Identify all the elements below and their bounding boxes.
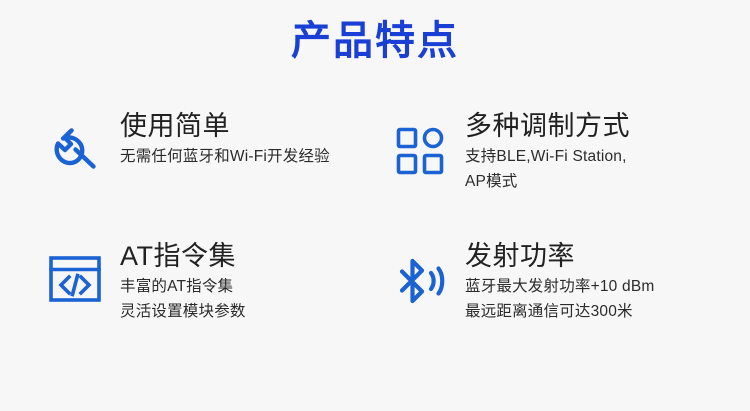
feature-desc-line: 蓝牙最大发射功率+10 dBm	[465, 274, 654, 299]
feature-title: 多种调制方式	[465, 108, 630, 144]
feature-item-at-command-set: AT指令集 丰富的AT指令集 灵活设置模块参数	[0, 234, 375, 364]
page-title: 产品特点	[0, 16, 750, 66]
feature-text-block: AT指令集 丰富的AT指令集 灵活设置模块参数	[120, 234, 246, 324]
code-window-icon	[44, 248, 106, 310]
feature-item-transmit-power: 发射功率 蓝牙最大发射功率+10 dBm 最远距离通信可达300米	[375, 234, 750, 364]
feature-title: 使用简单	[120, 108, 330, 144]
feature-desc-line: 最远距离通信可达300米	[465, 299, 654, 324]
wrench-icon	[44, 116, 106, 178]
feature-item-usage-simple: 使用简单 无需任何蓝牙和Wi-Fi开发经验	[0, 104, 375, 234]
feature-text-block: 多种调制方式 支持BLE,Wi-Fi Station, AP模式	[465, 104, 630, 194]
feature-desc-line: 丰富的AT指令集	[120, 274, 246, 299]
feature-title: 发射功率	[465, 238, 654, 274]
feature-desc-line: 支持BLE,Wi-Fi Station,	[465, 144, 630, 169]
feature-desc-line: AP模式	[465, 169, 630, 194]
product-features-page: 产品特点 使用简单 无需任何蓝牙和Wi-Fi开发经验	[0, 0, 750, 411]
feature-title: AT指令集	[120, 238, 246, 274]
feature-desc-line: 灵活设置模块参数	[120, 299, 246, 324]
feature-text-block: 使用简单 无需任何蓝牙和Wi-Fi开发经验	[120, 104, 330, 169]
feature-item-modulation-modes: 多种调制方式 支持BLE,Wi-Fi Station, AP模式	[375, 104, 750, 234]
bluetooth-signal-icon	[389, 250, 451, 312]
feature-text-block: 发射功率 蓝牙最大发射功率+10 dBm 最远距离通信可达300米	[465, 234, 654, 324]
grid-modes-icon	[389, 120, 451, 182]
features-grid: 使用简单 无需任何蓝牙和Wi-Fi开发经验 多种调制方式 支持BLE,Wi-Fi	[0, 104, 750, 374]
feature-desc-line: 无需任何蓝牙和Wi-Fi开发经验	[120, 144, 330, 169]
